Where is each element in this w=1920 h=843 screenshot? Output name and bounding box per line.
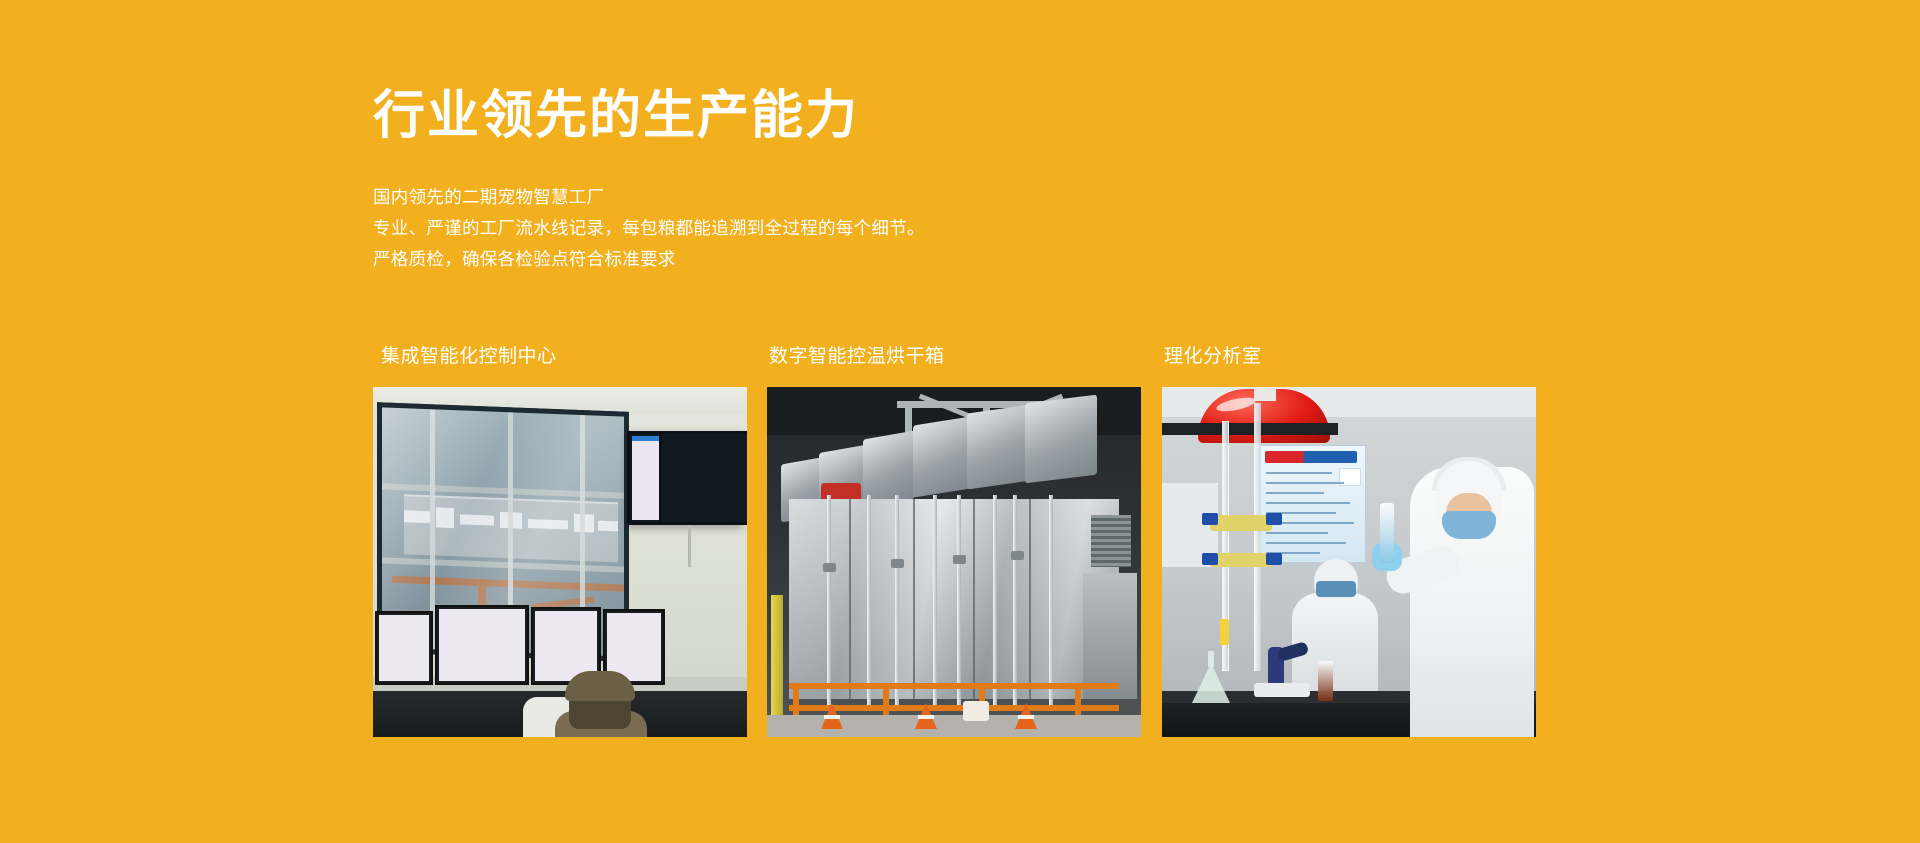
photo-caption: 数字智能控温烘干箱	[769, 345, 1141, 369]
intro-paragraph: 国内领先的二期宠物智慧工厂 专业、严谨的工厂流水线记录，每包粮都能追溯到全过程的…	[373, 182, 925, 275]
traffic-cone	[821, 703, 843, 729]
face-mask	[1442, 511, 1496, 539]
exhaust-hood	[1025, 395, 1097, 484]
door-latch-rod	[993, 495, 997, 709]
desk-monitor	[435, 605, 529, 685]
oven-door-seam	[973, 499, 975, 699]
side-panel	[1083, 573, 1137, 699]
microscope	[1254, 645, 1310, 697]
photo-card-list: 集成智能化控制中心	[373, 345, 1548, 765]
door-latch-rod	[827, 495, 831, 709]
monitor-cable	[688, 525, 691, 567]
door-latch-rod	[867, 495, 871, 709]
door-handle	[823, 563, 836, 572]
factory-machinery	[400, 504, 620, 562]
burette-tube	[1254, 403, 1261, 671]
photo-caption: 集成智能化控制中心	[381, 345, 747, 369]
clamp-grip	[1266, 513, 1282, 525]
white-bucket	[963, 701, 989, 721]
traffic-cone	[1015, 703, 1037, 729]
sample-vial	[1318, 661, 1333, 701]
door-latch-rod	[895, 495, 899, 709]
exhaust-hood	[913, 416, 971, 497]
laboratory-photo[interactable]	[1162, 387, 1536, 737]
conical-flask	[1192, 663, 1230, 703]
control-center-photo[interactable]	[373, 387, 747, 737]
oven-door-seam	[913, 499, 915, 699]
safety-poster	[1258, 445, 1366, 563]
traffic-cone	[915, 703, 937, 729]
flask-neck	[1208, 651, 1214, 667]
microscope-eyepiece	[1277, 641, 1309, 662]
door-latch-rod	[933, 495, 937, 709]
intro-line-3: 严格质检，确保各检验点符合标准要求	[373, 244, 925, 275]
test-tube	[1380, 503, 1394, 563]
factory-catwalk	[404, 494, 618, 562]
poster-header	[1265, 451, 1357, 463]
wall-scada-monitor-secondary	[659, 431, 747, 525]
microscope-base	[1254, 683, 1310, 697]
photo-card-laboratory[interactable]: 理化分析室	[1162, 345, 1536, 737]
desk-monitor	[375, 611, 433, 685]
oven-door-seam	[849, 499, 851, 699]
photo-card-drying-oven[interactable]: 数字智能控温烘干箱	[767, 345, 1141, 737]
door-handle	[891, 559, 904, 568]
window-rail	[382, 557, 624, 572]
intro-line-2: 专业、严谨的工厂流水线记录，每包粮都能追溯到全过程的每个细节。	[373, 213, 925, 244]
exhaust-hood	[967, 405, 1031, 490]
door-latch-rod	[1013, 495, 1017, 709]
clamp-grip	[1202, 513, 1218, 525]
oven-door-seam	[1029, 499, 1031, 699]
lamp-neck	[1254, 387, 1276, 401]
door-latch-rod	[1049, 495, 1053, 709]
door-handle	[953, 555, 966, 564]
worker-mask	[1316, 581, 1356, 597]
photo-caption: 理化分析室	[1164, 345, 1536, 369]
burette-clamp	[1210, 515, 1272, 531]
dark-wall-band	[1162, 423, 1338, 435]
door-latch-rod	[957, 495, 961, 709]
stopcock	[1220, 619, 1229, 645]
photo-card-control-center[interactable]: 集成智能化控制中心	[373, 345, 747, 737]
door-handle	[1011, 551, 1024, 560]
intro-line-1: 国内领先的二期宠物智慧工厂	[373, 182, 925, 213]
cooling-vent	[1091, 515, 1131, 567]
clamp-grip	[1202, 553, 1218, 565]
stainless-oven-body	[789, 499, 1119, 699]
drying-oven-photo[interactable]	[767, 387, 1141, 737]
steel-beam	[392, 576, 624, 592]
lab-technician	[1410, 467, 1534, 737]
operator-cap	[565, 671, 635, 701]
burette-clamp	[1210, 553, 1272, 567]
window-rail	[382, 483, 624, 498]
page-title: 行业领先的生产能力	[373, 87, 859, 147]
clamp-grip	[1266, 553, 1282, 565]
page-root: 行业领先的生产能力 国内领先的二期宠物智慧工厂 专业、严谨的工厂流水线记录，每包…	[0, 0, 1920, 843]
